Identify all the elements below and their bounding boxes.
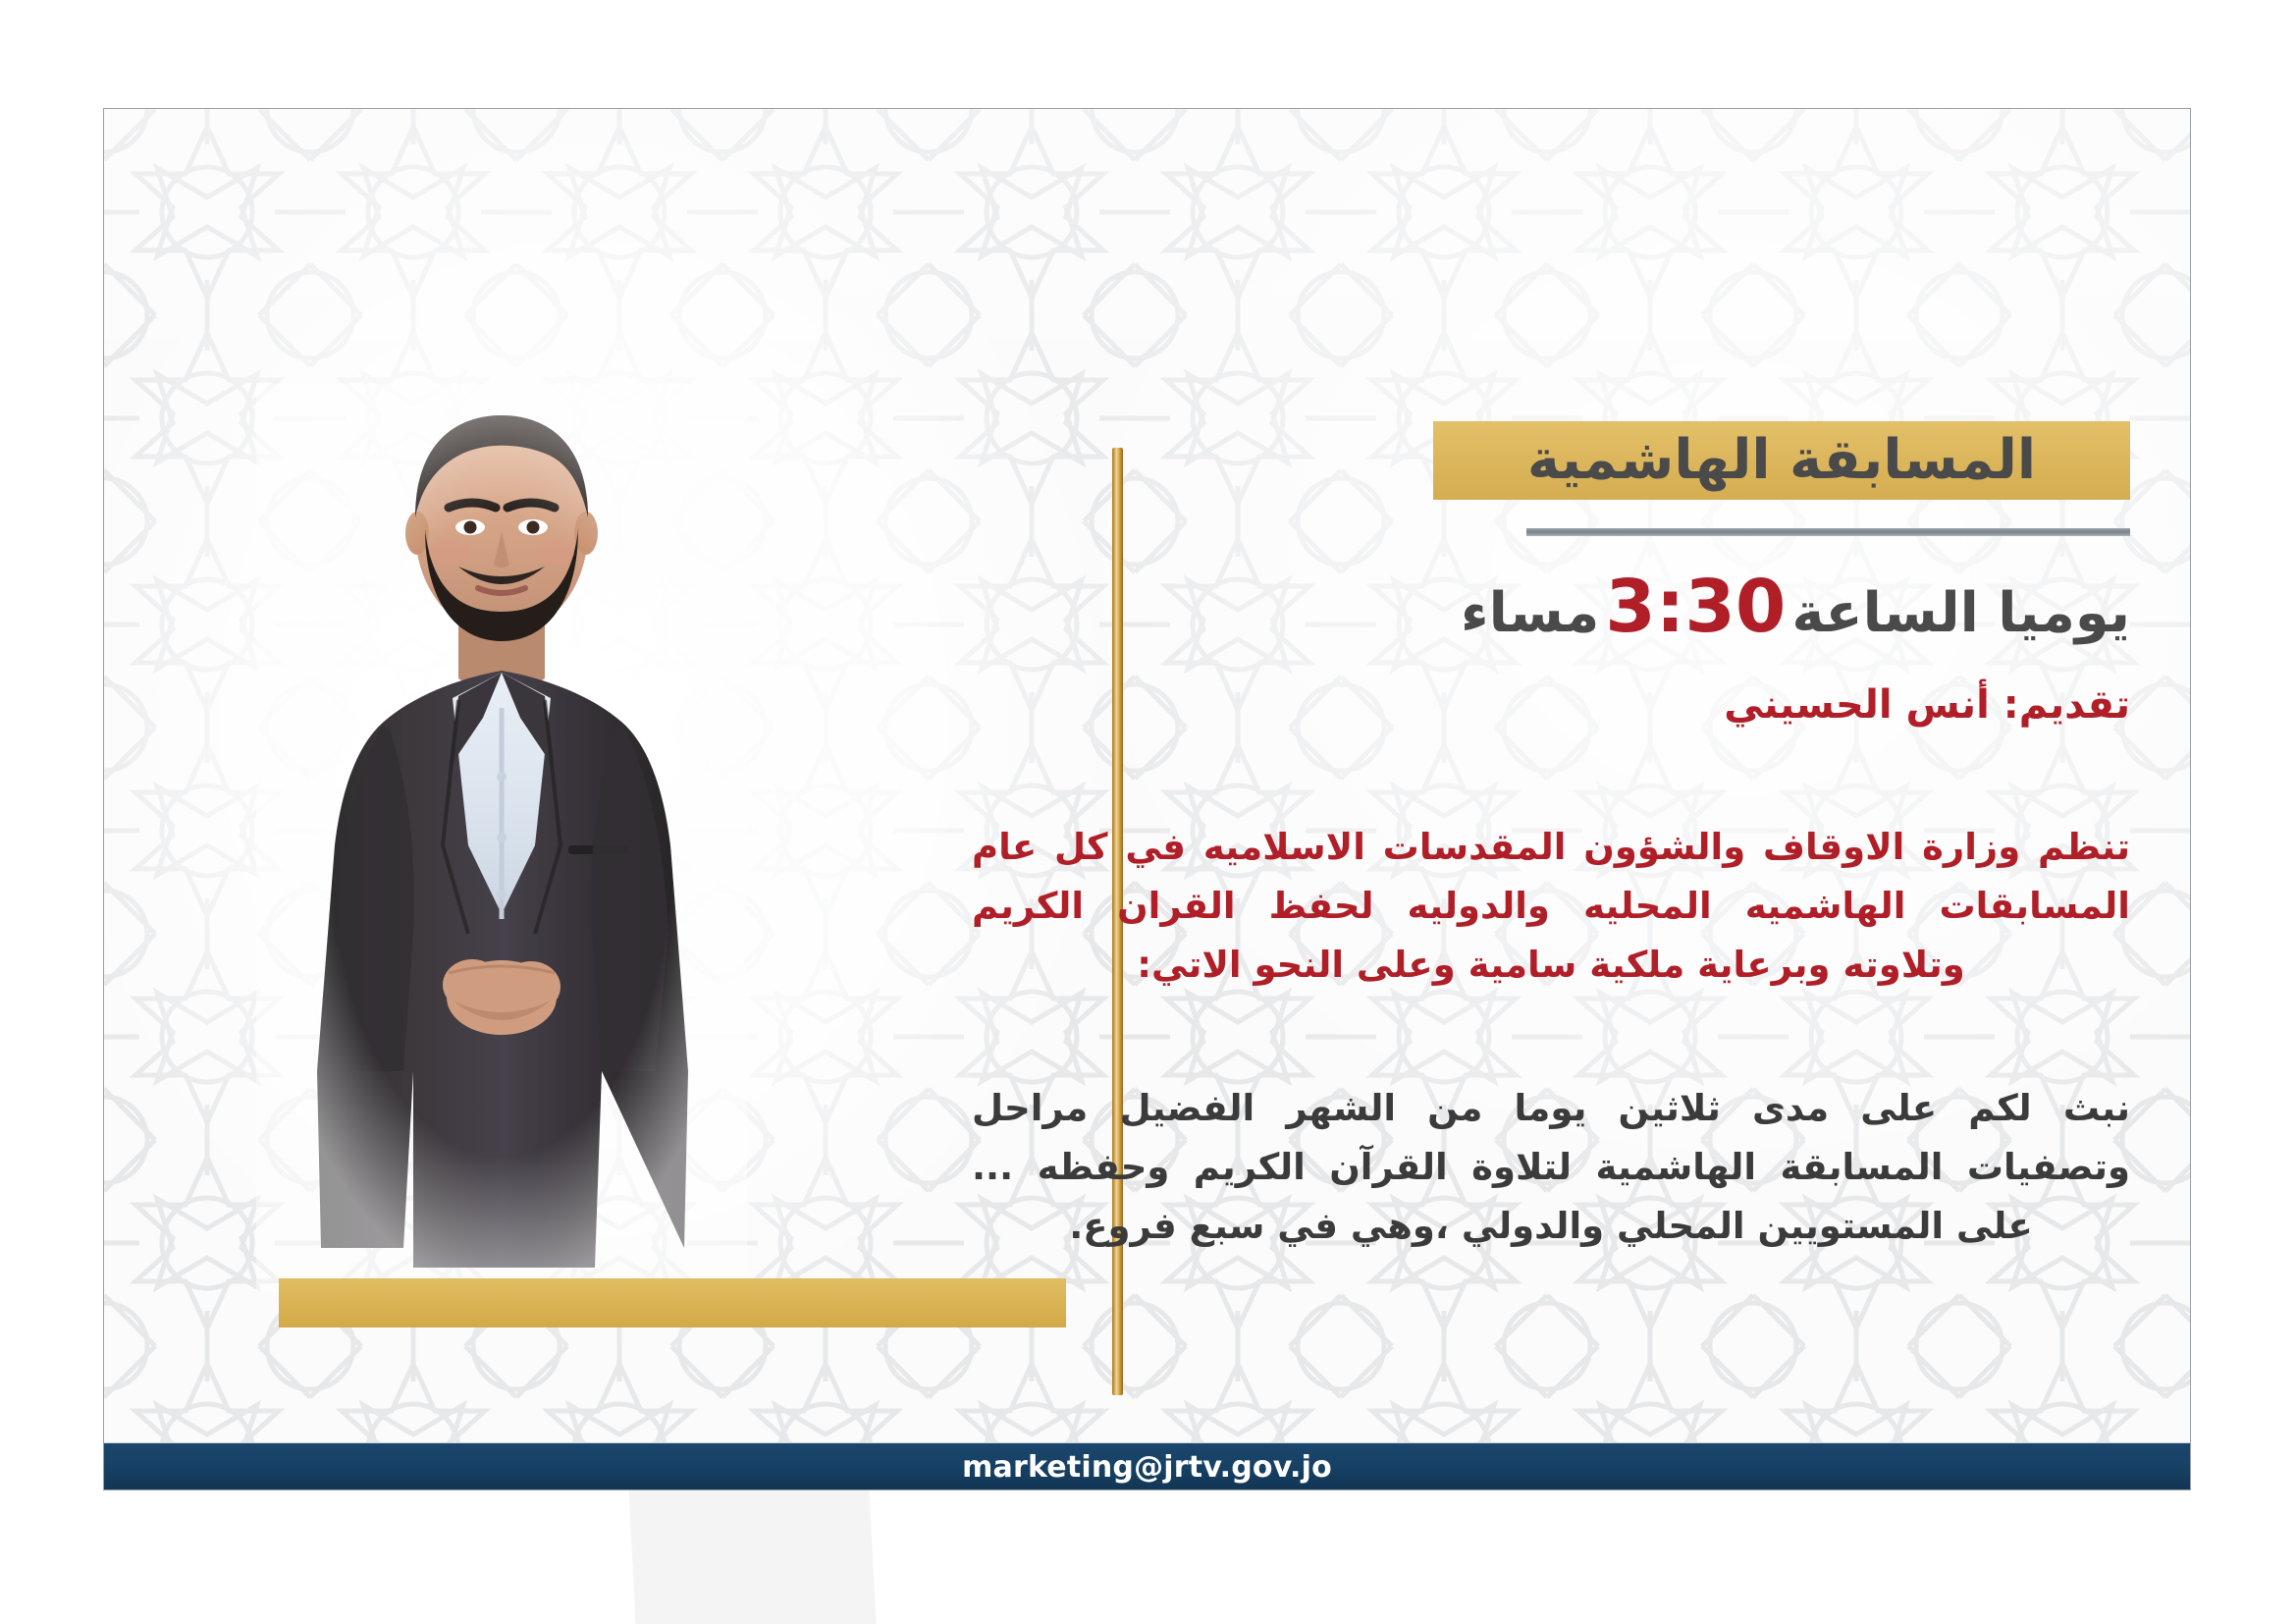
airtime-line: يوميا الساعة3:30مساء bbox=[1070, 567, 2130, 648]
footer-bar: marketing@jrtv.gov.jo bbox=[104, 1442, 2190, 1490]
gold-accent-bar bbox=[279, 1278, 1066, 1327]
presenter-photo bbox=[256, 384, 747, 1292]
paragraph-broadcast: نبث لكم على مدى ثلاثين يوما من الشهر الف… bbox=[972, 1079, 2130, 1256]
airtime-suffix: مساء bbox=[1461, 581, 1599, 645]
poster-card: المسابقة الهاشمية يوميا الساعة3:30مساء ت… bbox=[103, 108, 2191, 1490]
title-band: المسابقة الهاشمية bbox=[1433, 421, 2130, 500]
presenter-credit: تقديم: أنس الحسيني bbox=[1070, 681, 2130, 729]
card-content: المسابقة الهاشمية يوميا الساعة3:30مساء ت… bbox=[104, 109, 2190, 1489]
page-title: المسابقة الهاشمية bbox=[1527, 433, 2036, 488]
paragraph-organizer: تنظم وزارة الاوقاف والشؤون المقدسات الاس… bbox=[972, 818, 2130, 995]
airtime-value: 3:30 bbox=[1599, 565, 1791, 649]
contact-email[interactable]: marketing@jrtv.gov.jo bbox=[962, 1450, 1332, 1485]
title-underline-rule bbox=[1526, 528, 2130, 536]
presenter-figure bbox=[256, 384, 747, 1292]
airtime-prefix: يوميا الساعة bbox=[1791, 581, 2130, 645]
